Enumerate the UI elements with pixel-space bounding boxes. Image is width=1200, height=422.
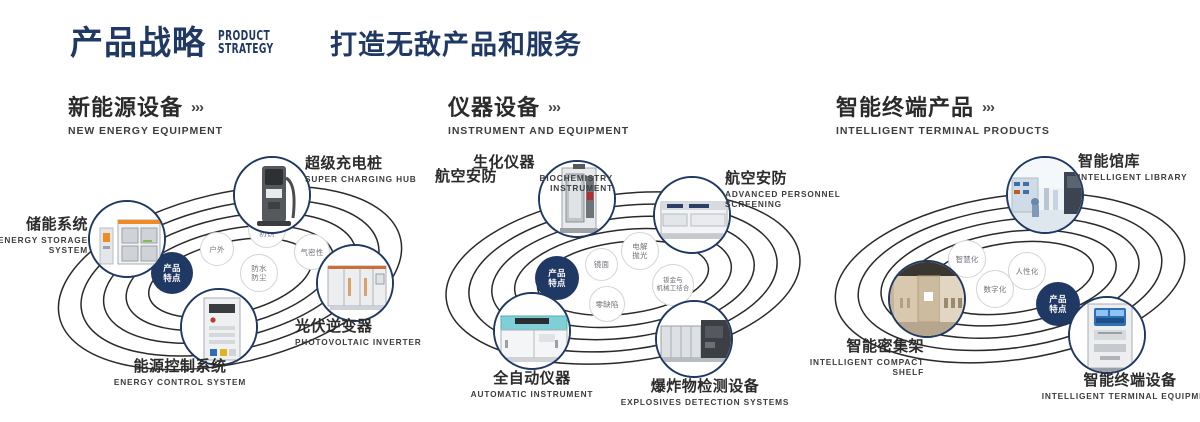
feature-bubble-mirror-finish[interactable]: 镜面 <box>585 248 618 281</box>
section-heading-intelligent-cn: 智能终端产品››› <box>836 96 1050 120</box>
feature-bubble-waterproof[interactable]: 防水 防尘 <box>240 254 278 292</box>
section-heading-instrument: 仪器设备››› INSTRUMENT AND EQUIPMENT <box>448 96 629 137</box>
node-intelligent-library[interactable] <box>1006 156 1084 234</box>
node-advanced-personnel-screening[interactable] <box>653 176 731 254</box>
page-title: 产品战略 <box>70 26 206 59</box>
feature-bubble-sheetmetal-machining-line2: 机械工结合 <box>657 285 690 293</box>
node-energy-storage-system[interactable] <box>88 200 166 278</box>
node-label-intelligent-library: 智能馆库 INTELLIGENT LIBRARY <box>1078 153 1200 182</box>
section-heading-intelligent: 智能终端产品››› INTELLIGENT TERMINAL PRODUCTS <box>836 96 1050 137</box>
feature-bubble-electropolishing-line1: 电解 <box>632 242 647 251</box>
section-heading-new-energy: 新能源设备››› NEW ENERGY EQUIPMENT <box>68 96 223 137</box>
node-label-automatic-instrument-cn: 全自动仪器 <box>443 370 621 387</box>
node-intelligent-terminal-equipment[interactable] <box>1068 296 1146 374</box>
feature-bubble-electropolishing[interactable]: 电解 抛光 <box>621 232 659 270</box>
node-label-energy-control-system: 能源控制系统 ENERGY CONTROL SYSTEM <box>85 358 275 387</box>
section-heading-intelligent-text: 智能终端产品 <box>836 95 974 120</box>
cluster-intelligent-terminal: 智慧化 数字化 人性化 产品 特点 <box>820 160 1200 390</box>
feature-bubble-waterproof-line2: 防尘 <box>251 273 266 282</box>
feature-bubble-outdoor[interactable]: 户外 <box>200 232 234 266</box>
node-label-explosives-detection-systems-cn: 爆炸物检测设备 <box>605 378 805 395</box>
feature-bubble-outdoor-line1: 户外 <box>209 245 224 254</box>
core-bubble-line1: 产品 <box>163 263 180 273</box>
screening-machine-icon <box>655 178 729 252</box>
core-bubble-line1: 产品 <box>1049 294 1066 304</box>
control-cabinet-icon <box>182 290 256 364</box>
section-heading-intelligent-en: INTELLIGENT TERMINAL PRODUCTS <box>836 125 1050 137</box>
node-label-energy-control-system-cn: 能源控制系统 <box>85 358 275 375</box>
section-heading-new-energy-cn: 新能源设备››› <box>68 96 223 120</box>
inverter-cabinet-icon <box>318 246 392 320</box>
node-super-charging-hub[interactable] <box>233 156 311 234</box>
node-label-biochemistry-instrument: 生化仪器 BIOCHEMISTRY INSTRUMENT <box>473 154 613 193</box>
chevron-right-icon: ››› <box>548 96 560 120</box>
node-label-intelligent-terminal-equipment-en: INTELLIGENT TERMINAL EQUIPMENT <box>1030 391 1200 401</box>
page-title-english: PRODUCT STRATEGY <box>218 30 274 56</box>
feature-bubble-mirror-finish-line1: 镜面 <box>594 260 609 269</box>
node-label-explosives-detection-systems: 爆炸物检测设备 EXPLOSIVES DETECTION SYSTEMS <box>605 378 805 407</box>
node-label-energy-storage-system-cn: 储能系统 <box>0 216 88 233</box>
compact-shelf-icon <box>890 262 964 336</box>
charging-pile-icon <box>235 158 309 232</box>
chevron-right-icon: ››› <box>191 96 203 120</box>
node-label-intelligent-terminal-equipment: 智能终端设备 INTELLIGENT TERMINAL EQUIPMENT <box>1030 372 1200 401</box>
node-intelligent-compact-shelf[interactable] <box>888 260 966 338</box>
automatic-analyzer-icon <box>495 294 569 368</box>
section-heading-instrument-cn: 仪器设备››› <box>448 96 629 120</box>
node-label-intelligent-compact-shelf-en: INTELLIGENT COMPACT SHELF <box>776 357 924 377</box>
feature-bubble-humanized-line1: 人性化 <box>1015 267 1038 276</box>
core-bubble-line2: 特点 <box>548 278 565 288</box>
cluster-new-energy: 产品 特点 户外 防腐 防锈 防水 防尘 气密性 <box>40 160 420 390</box>
node-label-biochemistry-instrument-cn: 生化仪器 <box>473 154 613 171</box>
feature-bubble-zero-defect-line1: 零缺陷 <box>595 300 618 309</box>
feature-bubble-electropolishing-line2: 抛光 <box>632 251 647 260</box>
core-bubble-line2: 特点 <box>1049 304 1066 314</box>
cluster-instrument: 产品 特点 镜面 电解 抛光 零缺陷 钣金与 机械工结合 航空安防 <box>425 160 815 390</box>
poster-header: 产品战略 PRODUCT STRATEGY 打造无敌产品和服务 <box>0 0 1200 90</box>
explosives-detector-icon <box>657 302 731 376</box>
node-label-intelligent-library-cn: 智能馆库 <box>1078 153 1200 170</box>
core-bubble-line1: 产品 <box>548 268 565 278</box>
page-subtitle: 打造无敌产品和服务 <box>330 32 582 59</box>
core-bubble-line2: 特点 <box>163 273 180 283</box>
node-label-energy-storage-system-en: ENERGY STORAGE SYSTEM <box>0 235 88 255</box>
node-label-intelligent-compact-shelf: 智能密集架 INTELLIGENT COMPACT SHELF <box>776 338 924 377</box>
feature-bubble-zero-defect[interactable]: 零缺陷 <box>589 286 625 322</box>
node-automatic-instrument[interactable] <box>493 292 571 370</box>
feature-bubble-humanized[interactable]: 人性化 <box>1008 252 1046 290</box>
node-label-biochemistry-instrument-en: BIOCHEMISTRY INSTRUMENT <box>473 173 613 193</box>
section-heading-instrument-en: INSTRUMENT AND EQUIPMENT <box>448 125 629 137</box>
feature-bubble-digital-line1: 数字化 <box>983 285 1006 294</box>
node-energy-control-system[interactable] <box>180 288 258 366</box>
section-heading-new-energy-text: 新能源设备 <box>68 95 183 120</box>
library-room-icon <box>1008 158 1082 232</box>
node-explosives-detection-systems[interactable] <box>655 300 733 378</box>
terminal-kiosk-icon <box>1070 298 1144 372</box>
poster-canvas: 产品战略 PRODUCT STRATEGY 打造无敌产品和服务 新能源设备›››… <box>0 0 1200 422</box>
node-label-intelligent-library-en: INTELLIGENT LIBRARY <box>1078 172 1200 182</box>
node-label-intelligent-compact-shelf-cn: 智能密集架 <box>776 338 924 355</box>
node-label-automatic-instrument: 全自动仪器 AUTOMATIC INSTRUMENT <box>443 370 621 399</box>
node-label-energy-control-system-en: ENERGY CONTROL SYSTEM <box>85 377 275 387</box>
section-heading-instrument-text: 仪器设备 <box>448 95 540 120</box>
feature-bubble-waterproof-line1: 防水 <box>251 264 266 273</box>
node-label-intelligent-terminal-equipment-cn: 智能终端设备 <box>1030 372 1200 389</box>
feature-bubble-sheetmetal-machining-line1: 钣金与 <box>657 277 690 285</box>
node-photovoltaic-inverter[interactable] <box>316 244 394 322</box>
node-label-energy-storage-system: 储能系统 ENERGY STORAGE SYSTEM <box>0 216 88 255</box>
page-title-english-line2: STRATEGY <box>218 43 274 56</box>
chevron-right-icon: ››› <box>982 96 994 120</box>
battery-cabinet-icon <box>90 202 164 276</box>
node-label-automatic-instrument-en: AUTOMATIC INSTRUMENT <box>443 389 621 399</box>
node-label-explosives-detection-systems-en: EXPLOSIVES DETECTION SYSTEMS <box>605 397 805 407</box>
section-heading-new-energy-en: NEW ENERGY EQUIPMENT <box>68 125 223 137</box>
